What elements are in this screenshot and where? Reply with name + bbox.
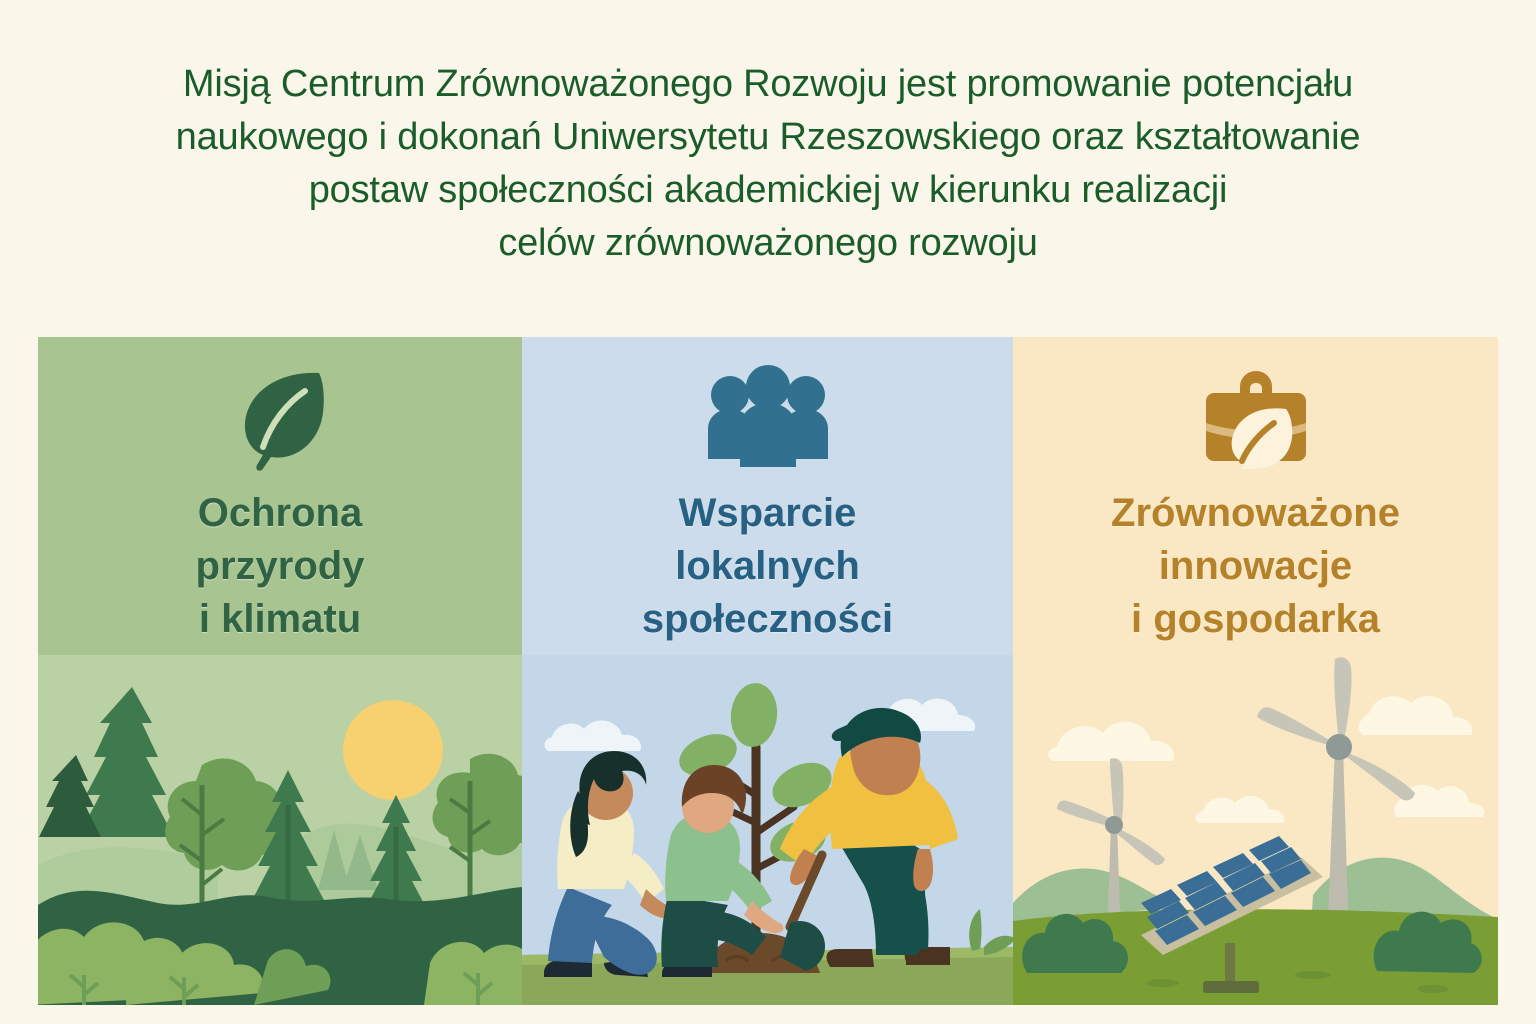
panel-innovation-title-line-3: i gospodarka (1013, 593, 1498, 646)
heading-line-2: naukowego i dokonań Uniwersytetu Rzeszow… (40, 111, 1496, 164)
panel-nature-title-line-1: Ochrona (38, 487, 522, 540)
briefcase-leaf-icon (1200, 365, 1312, 469)
panel-community-title-line-3: społeczności (522, 593, 1013, 646)
tree-planting-scene (522, 655, 1013, 1005)
panel-community-title-line-1: Wsparcie (522, 487, 1013, 540)
briefcase-leaf-icon-wrap (1013, 365, 1498, 469)
panel-nature-title-line-2: przyrody (38, 540, 522, 593)
leaf-icon (231, 365, 329, 473)
renewable-energy-scene (1013, 655, 1498, 1005)
pillar-panels: Ochrona przyrody i klimatu (38, 337, 1498, 1005)
panel-innovation-title-line-1: Zrównoważone (1013, 487, 1498, 540)
page-title: Misją Centrum Zrównoważonego Rozwoju jes… (0, 58, 1536, 270)
sun-icon (343, 700, 443, 800)
panel-community-title-line-2: lokalnych (522, 540, 1013, 593)
panel-innovation[interactable]: Zrównoważone innowacje i gospodarka (1013, 337, 1498, 1005)
heading-line-1: Misją Centrum Zrównoważonego Rozwoju jes… (40, 58, 1496, 111)
people-group-icon-wrap (522, 365, 1013, 469)
leaf-icon-wrap (38, 365, 522, 473)
heading-line-3: postaw społeczności akademickiej w kieru… (40, 164, 1496, 217)
panel-nature[interactable]: Ochrona przyrody i klimatu (38, 337, 522, 1005)
heading-line-4: celów zrównoważonego rozwoju (40, 217, 1496, 270)
panel-nature-title-line-3: i klimatu (38, 593, 522, 646)
forest-scene (38, 655, 522, 1005)
panel-community-title: Wsparcie lokalnych społeczności (522, 487, 1013, 646)
panel-community[interactable]: Wsparcie lokalnych społeczności (522, 337, 1013, 1005)
panel-innovation-title: Zrównoważone innowacje i gospodarka (1013, 487, 1498, 646)
panel-innovation-title-line-2: innowacje (1013, 540, 1498, 593)
panel-nature-title: Ochrona przyrody i klimatu (38, 487, 522, 646)
people-group-icon (700, 365, 836, 469)
